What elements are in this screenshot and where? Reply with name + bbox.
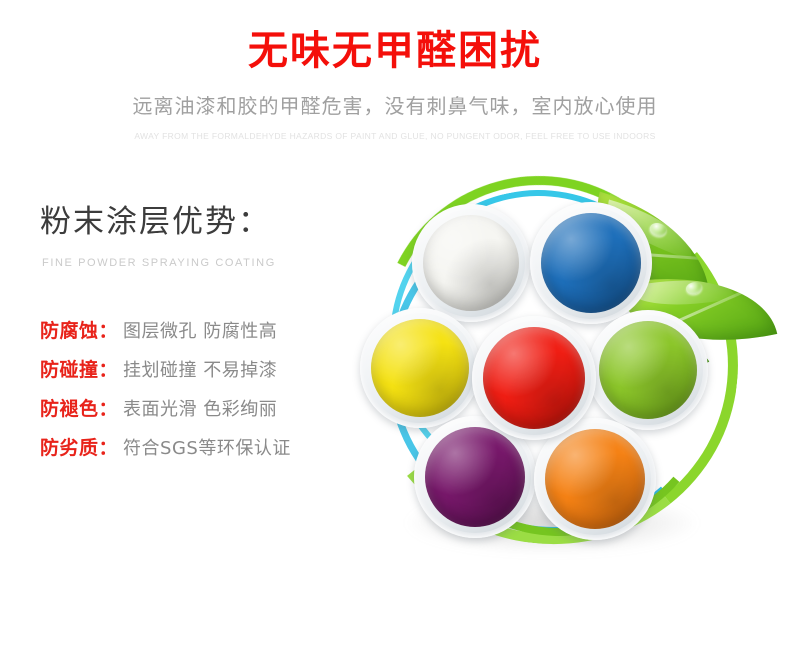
- powder-fill: [371, 319, 469, 417]
- feature-value: 图层微孔 防腐性高: [123, 317, 277, 343]
- advantages-section: 粉末涂层优势： FINE POWDER SPRAYING COATING 防腐蚀…: [40, 196, 370, 472]
- yellow-powder-jar: [360, 308, 480, 428]
- white-powder-jar: [412, 204, 530, 322]
- banner-header: 无味无甲醛困扰 远离油漆和胶的甲醛危害，没有刺鼻气味，室内放心使用 AWAY F…: [0, 0, 790, 141]
- list-item: 防褪色： 表面光滑 色彩绚丽: [40, 394, 370, 421]
- page-subtitle-english: AWAY FROM THE FORMALDEHYDE HAZARDS OF PA…: [0, 131, 790, 141]
- section-heading: 粉末涂层优势：: [40, 196, 370, 241]
- page-subtitle: 远离油漆和胶的甲醛危害，没有刺鼻气味，室内放心使用: [0, 90, 790, 119]
- green-powder-jar: [588, 310, 708, 430]
- feature-label: 防劣质：: [40, 433, 118, 460]
- red-powder-jar: [472, 316, 596, 440]
- feature-value: 挂划碰撞 不易掉漆: [123, 356, 277, 382]
- feature-label: 防腐蚀：: [40, 316, 118, 343]
- product-image-stage: [352, 168, 790, 588]
- powder-fill: [483, 327, 585, 429]
- powder-fill: [425, 427, 525, 527]
- powder-fill: [423, 215, 519, 311]
- powder-fill: [545, 429, 645, 529]
- feature-label: 防褪色：: [40, 394, 118, 421]
- feature-label: 防碰撞：: [40, 355, 118, 382]
- powder-fill: [541, 213, 641, 313]
- list-item: 防劣质： 符合SGS等环保认证: [40, 433, 370, 460]
- list-item: 防腐蚀： 图层微孔 防腐性高: [40, 316, 370, 343]
- feature-value: 表面光滑 色彩绚丽: [123, 395, 277, 421]
- blue-powder-jar: [530, 202, 652, 324]
- section-heading-english: FINE POWDER SPRAYING COATING: [42, 257, 370, 269]
- list-item: 防碰撞： 挂划碰撞 不易掉漆: [40, 355, 370, 382]
- product-image: [352, 168, 790, 588]
- feature-list: 防腐蚀： 图层微孔 防腐性高 防碰撞： 挂划碰撞 不易掉漆 防褪色： 表面光滑 …: [40, 316, 370, 460]
- page-title: 无味无甲醛困扰: [0, 28, 790, 74]
- powder-fill: [599, 321, 697, 419]
- feature-value: 符合SGS等环保认证: [123, 434, 291, 460]
